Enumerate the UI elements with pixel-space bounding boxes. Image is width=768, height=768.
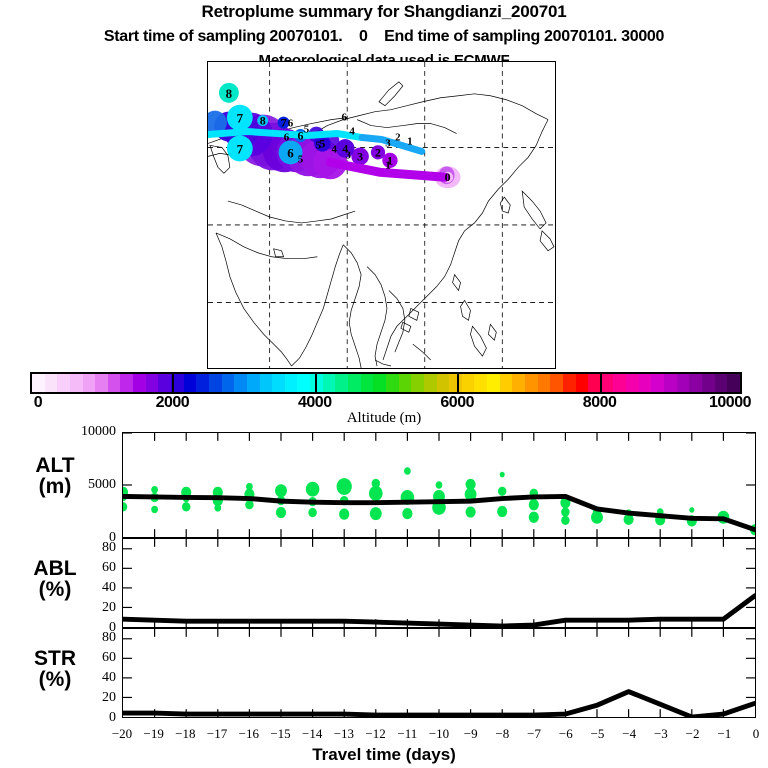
map-gridlines: [208, 62, 555, 368]
abl-ytick-20: 20: [58, 600, 116, 616]
alt-plot-canvas: [123, 433, 755, 537]
colorbar-swatch-3: [70, 374, 83, 392]
colorbar-swatch-51: [677, 374, 690, 392]
x-tick-−10: −10: [429, 726, 449, 742]
svg-text:1: 1: [385, 159, 390, 171]
svg-text:2: 2: [375, 145, 381, 159]
colorbar-swatch-35: [474, 374, 487, 392]
colorbar-swatch-47: [626, 374, 639, 392]
x-tick-−16: −16: [239, 726, 259, 742]
svg-text:5: 5: [304, 124, 310, 136]
colorbar-swatch-17: [247, 374, 260, 392]
colorbar-swatch-0: [32, 374, 45, 392]
abl-ytick-40: 40: [58, 580, 116, 596]
colorbar-swatch-50: [664, 374, 677, 392]
x-tick-−13: −13: [334, 726, 354, 742]
colorbar-swatch-2: [57, 374, 70, 392]
colorbar-swatch-12: [184, 374, 197, 392]
x-tick-−4: −4: [622, 726, 636, 742]
svg-text:8: 8: [226, 86, 233, 101]
colorbar-swatch-8: [133, 374, 146, 392]
colorbar-swatch-48: [639, 374, 652, 392]
svg-text:8: 8: [260, 114, 266, 128]
colorbar-swatch-42: [563, 374, 576, 392]
x-tick-−19: −19: [144, 726, 164, 742]
retroplume-map[interactable]: 77680123456785432143516566: [207, 61, 556, 369]
colorbar-swatch-24: [335, 374, 348, 392]
colorbar-swatch-54: [715, 374, 728, 392]
colorbar-swatch-43: [576, 374, 589, 392]
svg-text:4: 4: [349, 126, 355, 138]
x-tick-−12: −12: [365, 726, 385, 742]
colorbar-swatch-38: [512, 374, 525, 392]
colorbar-swatch-34: [462, 374, 475, 392]
x-tick-−9: −9: [464, 726, 478, 742]
x-tick-−11: −11: [397, 726, 417, 742]
altitude-colorbar[interactable]: [30, 372, 742, 394]
x-tick-−6: −6: [559, 726, 573, 742]
svg-text:4: 4: [332, 143, 338, 155]
sampling-time-subtitle: Start time of sampling 20070101. 0 End t…: [0, 28, 768, 46]
colorbar-swatch-20: [285, 374, 298, 392]
abl-plot[interactable]: [122, 538, 756, 628]
x-tick-−5: −5: [591, 726, 605, 742]
alt-ytick-10000: 10000: [58, 424, 116, 440]
colorbar-swatch-26: [361, 374, 374, 392]
x-tick-−14: −14: [302, 726, 322, 742]
colorbar-swatch-5: [95, 374, 108, 392]
str-ytick-40: 40: [58, 670, 116, 686]
svg-text:7: 7: [237, 141, 244, 156]
colorbar-swatch-7: [120, 374, 133, 392]
colorbar-swatch-4: [83, 374, 96, 392]
str-plot[interactable]: [122, 628, 756, 718]
colorbar-swatch-29: [399, 374, 412, 392]
alt-ytick-5000: 5000: [58, 477, 116, 493]
svg-text:5: 5: [298, 153, 304, 165]
svg-text:6: 6: [287, 145, 294, 160]
page-title: Retroplume summary for Shangdianzi_20070…: [0, 2, 768, 22]
colorbar-swatch-49: [651, 374, 664, 392]
x-tick-0: 0: [753, 726, 760, 742]
svg-text:6: 6: [297, 128, 303, 142]
colorbar-swatch-39: [525, 374, 538, 392]
colorbar-swatch-18: [260, 374, 273, 392]
colorbar-swatch-23: [323, 374, 336, 392]
colorbar-swatch-10: [158, 374, 171, 392]
str-ytick-60: 60: [58, 650, 116, 666]
colorbar-swatch-9: [146, 374, 159, 392]
x-tick-−8: −8: [495, 726, 509, 742]
svg-text:6: 6: [284, 131, 290, 143]
x-tick-−15: −15: [270, 726, 290, 742]
alt-plot[interactable]: [122, 432, 756, 538]
svg-text:3: 3: [345, 149, 351, 161]
colorbar-swatch-53: [702, 374, 715, 392]
colorbar-swatch-27: [373, 374, 386, 392]
colorbar-swatch-32: [437, 374, 450, 392]
svg-text:2: 2: [395, 131, 400, 143]
colorbar-swatch-41: [550, 374, 563, 392]
colorbar-separator-0: [172, 372, 174, 394]
colorbar-separator-3: [600, 372, 602, 394]
colorbar-swatch-33: [449, 374, 462, 392]
colorbar-separator-1: [315, 372, 317, 394]
x-tick-−7: −7: [527, 726, 541, 742]
colorbar-swatch-19: [272, 374, 285, 392]
svg-text:7: 7: [281, 116, 287, 130]
colorbar-swatch-14: [209, 374, 222, 392]
colorbar-separator-2: [457, 372, 459, 394]
svg-text:6: 6: [341, 112, 347, 124]
colorbar-swatch-28: [386, 374, 399, 392]
str-plot-canvas: [123, 629, 755, 717]
x-tick-−3: −3: [654, 726, 668, 742]
svg-text:7: 7: [237, 111, 244, 126]
svg-text:3: 3: [385, 137, 391, 149]
colorbar-swatch-55: [727, 374, 740, 392]
colorbar-swatch-31: [424, 374, 437, 392]
colorbar-swatch-1: [45, 374, 58, 392]
str-ytick-20: 20: [58, 690, 116, 706]
abl-ytick-60: 60: [58, 560, 116, 576]
x-tick-−2: −2: [686, 726, 700, 742]
abl-plot-canvas: [123, 539, 755, 627]
svg-text:5: 5: [316, 139, 322, 151]
colorbar-swatch-40: [538, 374, 551, 392]
colorbar-swatch-30: [411, 374, 424, 392]
colorbar-swatch-52: [689, 374, 702, 392]
colorbar-swatch-25: [348, 374, 361, 392]
colorbar-swatch-6: [108, 374, 121, 392]
colorbar-swatch-46: [613, 374, 626, 392]
x-tick-−18: −18: [175, 726, 195, 742]
svg-text:6: 6: [288, 118, 294, 130]
svg-text:3: 3: [357, 149, 363, 163]
colorbar-swatch-45: [601, 374, 614, 392]
str-ytick-80: 80: [58, 630, 116, 646]
svg-text:1: 1: [407, 135, 412, 147]
x-tick-−20: −20: [112, 726, 132, 742]
svg-text:0: 0: [445, 170, 451, 184]
map-canvas: 77680123456785432143516566: [208, 62, 555, 368]
colorbar-swatch-16: [234, 374, 247, 392]
x-tick-−17: −17: [207, 726, 227, 742]
abl-ytick-80: 80: [58, 540, 116, 556]
colorbar-swatch-15: [222, 374, 235, 392]
colorbar-swatch-21: [297, 374, 310, 392]
colorbar-swatch-36: [487, 374, 500, 392]
alt-axis-label-line1: ALT: [0, 455, 110, 476]
colorbar-swatch-13: [196, 374, 209, 392]
x-axis-title: Travel time (days): [0, 745, 768, 765]
x-tick-−1: −1: [717, 726, 731, 742]
colorbar-swatch-37: [500, 374, 513, 392]
str-ytick-0: 0: [58, 710, 116, 726]
